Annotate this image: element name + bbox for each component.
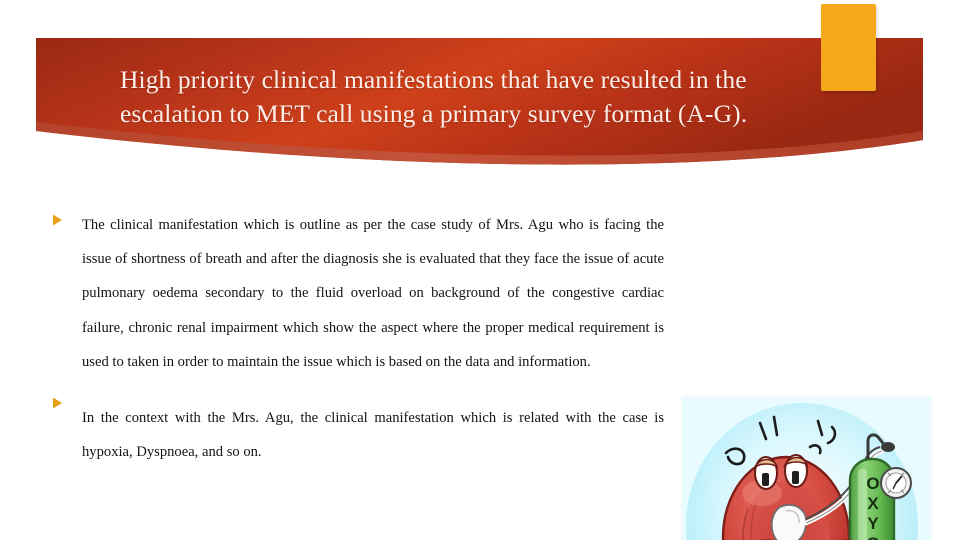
title-line-1: High priority clinical manifestations th… — [120, 63, 860, 97]
red-blood-cell-oxygen-cartoon: O X Y G E N — [682, 397, 931, 540]
list-item: The clinical manifestation which is outl… — [52, 208, 664, 379]
triangle-bullet-icon — [52, 208, 82, 226]
svg-text:O: O — [866, 474, 879, 493]
illustration-image: O X Y G E N — [682, 397, 931, 540]
svg-text:Y: Y — [867, 514, 879, 533]
slide-canvas: High priority clinical manifestations th… — [0, 0, 961, 540]
svg-text:G: G — [866, 534, 879, 540]
list-item-text: The clinical manifestation which is outl… — [82, 208, 664, 379]
accent-rectangle — [821, 4, 876, 91]
header-banner: High priority clinical manifestations th… — [0, 0, 961, 175]
title-line-2: escalation to MET call using a primary s… — [120, 97, 860, 131]
slide-body: The clinical manifestation which is outl… — [0, 198, 961, 540]
page-title: High priority clinical manifestations th… — [120, 63, 860, 131]
list-item-text: In the context with the Mrs. Agu, the cl… — [82, 401, 664, 469]
list-item: In the context with the Mrs. Agu, the cl… — [52, 391, 664, 469]
bullet-list: The clinical manifestation which is outl… — [52, 208, 664, 481]
oxygen-tank-label: O X Y G E N — [866, 474, 879, 540]
svg-text:X: X — [867, 494, 879, 513]
triangle-bullet-icon — [52, 391, 82, 409]
banner-shape — [0, 0, 961, 175]
